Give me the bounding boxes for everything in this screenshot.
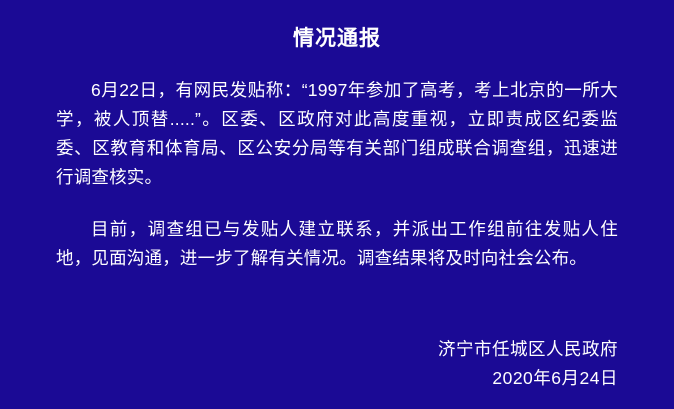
- signature-block: 济宁市任城区人民政府 2020年6月24日: [56, 336, 618, 391]
- page-title: 情况通报: [0, 26, 674, 52]
- notice-body: 6月22日，有网民发贴称：“1997年参加了高考，考上北京的一所大学，被人顶替.…: [56, 76, 618, 273]
- signature-date: 2020年6月24日: [56, 365, 618, 391]
- signature-organization: 济宁市任城区人民政府: [56, 336, 618, 362]
- notice-page: 情况通报 6月22日，有网民发贴称：“1997年参加了高考，考上北京的一所大学，…: [0, 0, 674, 409]
- notice-paragraph-2: 目前，调查组已与发贴人建立联系，并派出工作组前往发贴人住地，见面沟通，进一步了解…: [56, 215, 618, 273]
- notice-paragraph-1: 6月22日，有网民发贴称：“1997年参加了高考，考上北京的一所大学，被人顶替.…: [56, 76, 618, 192]
